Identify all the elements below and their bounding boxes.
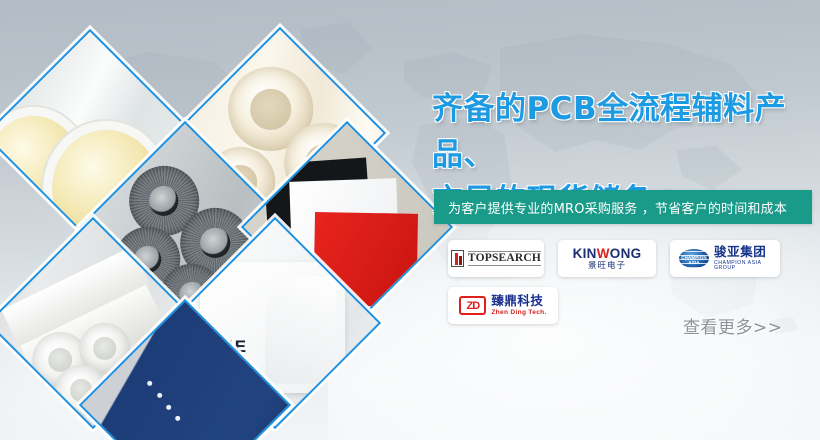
- partner-logo-kinwong[interactable]: KINWONG 景旺电子: [558, 240, 656, 277]
- promo-banner: JIE 齐备的PCB全流程辅料产品、 充足的现货储备 为客户提供专业的MRO采购…: [0, 0, 820, 440]
- banner-subtitle-bar: 为客户提供专业的MRO采购服务 ，节省客户的时间和成本: [434, 190, 812, 224]
- partner-logo-topsearch[interactable]: TOPSEARCH: [448, 240, 544, 277]
- kinwong-text-2: ONG: [610, 246, 642, 261]
- kinwong-text-1: KIN: [573, 246, 597, 261]
- champion-asia-en: CHAMPION ASIA GROUP: [714, 261, 771, 271]
- globe-icon: CHAMPION ASIA: [679, 249, 709, 268]
- kinwong-subtitle: 景旺电子: [573, 262, 642, 271]
- view-more-link[interactable]: 查看更多>>: [683, 313, 783, 338]
- zhen-ding-cn: 臻鼎科技: [491, 295, 546, 308]
- zhen-ding-en: Zhen Ding Tech.: [491, 310, 546, 317]
- topsearch-mark-icon: [451, 250, 464, 267]
- champion-asia-cn: 骏亚集团: [714, 246, 771, 259]
- globe-icon-text: CHAMPION ASIA: [679, 255, 709, 265]
- kinwong-accent-w: W: [597, 246, 610, 261]
- label-peel: [266, 276, 336, 383]
- partner-logo-champion-asia[interactable]: CHAMPION ASIA 骏亚集团 CHAMPION ASIA GROUP: [670, 240, 780, 277]
- zd-box-icon: ZD: [459, 296, 486, 315]
- partner-logo-row: TOPSEARCH KINWONG 景旺电子 CHAMPION ASIA 骏亚集…: [448, 240, 808, 324]
- kinwong-wordmark: KINWONG: [573, 247, 642, 261]
- topsearch-label: TOPSEARCH: [468, 251, 541, 266]
- partner-logo-zhen-ding[interactable]: ZD 臻鼎科技 Zhen Ding Tech.: [448, 287, 558, 324]
- banner-subtitle-text: 为客户提供专业的MRO采购服务 ，节省客户的时间和成本: [434, 198, 787, 217]
- product-tile-grid: JIE: [0, 0, 430, 440]
